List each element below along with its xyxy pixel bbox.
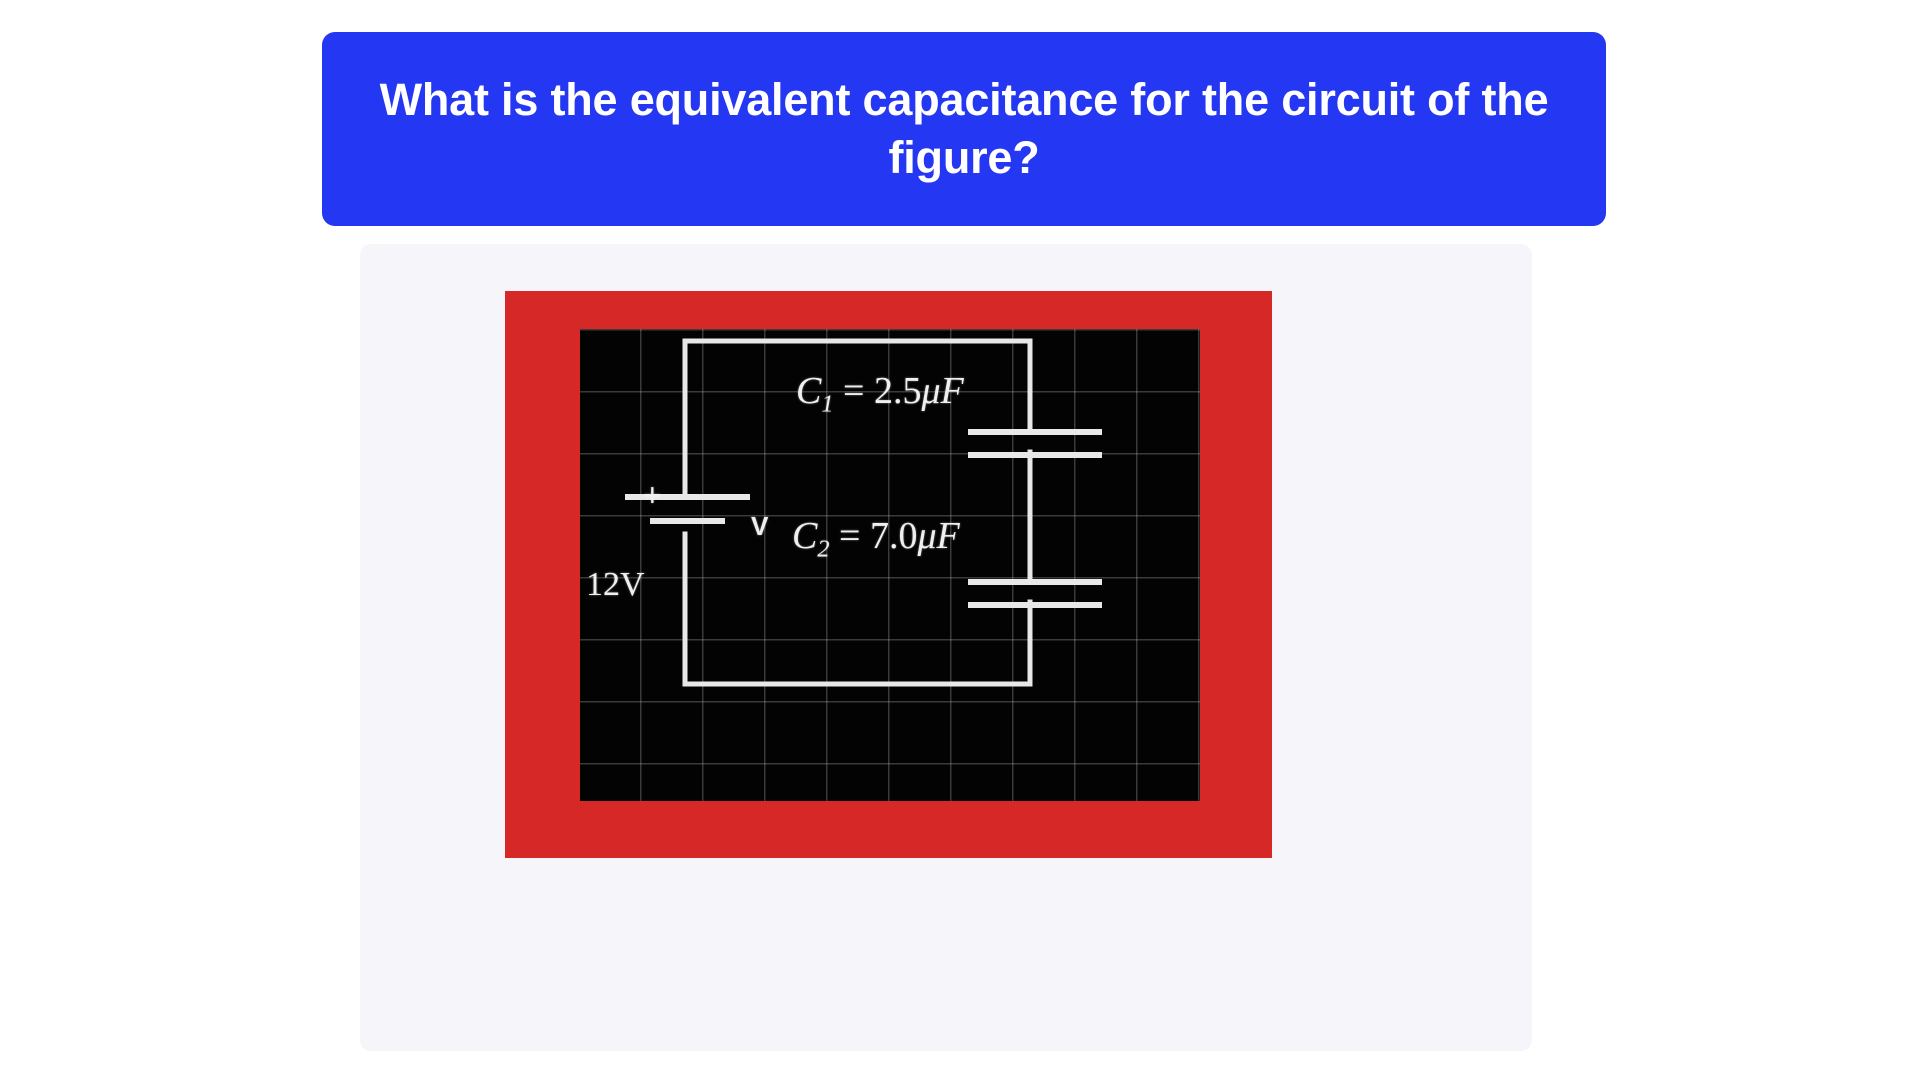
capacitor-c1-label: C1 = 2.5μF	[796, 369, 964, 419]
c2-subscript: 2	[817, 536, 829, 563]
figure-card: + 12V V C1 = 2.5μF C2 = 7.0μF	[360, 244, 1532, 1051]
question-banner: What is the equivalent capacitance for t…	[322, 32, 1606, 226]
voltage-unit-marker: V	[751, 511, 768, 542]
c2-unit: μF	[917, 515, 959, 557]
c1-value: = 2.5	[834, 370, 922, 412]
circuit-diagram: + 12V V C1 = 2.5μF C2 = 7.0μF	[580, 329, 1200, 801]
c1-symbol: C	[796, 370, 821, 412]
source-voltage-label: 12V	[586, 566, 645, 604]
figure-red-frame: + 12V V C1 = 2.5μF C2 = 7.0μF	[505, 291, 1272, 858]
c1-subscript: 1	[821, 391, 833, 418]
c2-symbol: C	[792, 515, 817, 557]
c2-value: = 7.0	[830, 515, 918, 557]
battery-polarity-plus-label: +	[643, 477, 662, 514]
question-title: What is the equivalent capacitance for t…	[348, 71, 1580, 188]
capacitor-c2-label: C2 = 7.0μF	[792, 514, 960, 564]
c1-unit: μF	[921, 370, 963, 412]
